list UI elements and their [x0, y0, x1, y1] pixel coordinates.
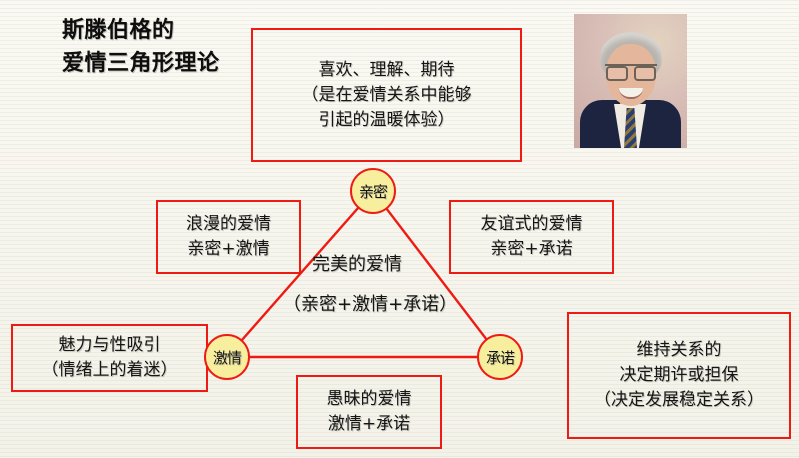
box-intimacy-definition-line-2: （是在爱情关系中能够	[302, 83, 472, 108]
consummate-love-components: （亲密+激情+承诺）	[283, 292, 457, 318]
box-fatuous-love: 愚昧的爱情 激情+承诺	[296, 375, 442, 449]
node-intimacy[interactable]: 亲密	[350, 168, 396, 214]
box-commitment-definition-line-2: 决定期许或担保	[620, 363, 739, 388]
box-romantic-love-line-1: 浪漫的爱情	[186, 212, 271, 237]
box-passion-definition-line-1: 魅力与性吸引	[59, 333, 161, 358]
node-intimacy-label: 亲密	[359, 181, 387, 202]
box-commitment-definition: 维持关系的 决定期许或担保 （决定发展稳定关系）	[567, 312, 791, 439]
box-fatuous-love-line-2: 激情+承诺	[328, 412, 410, 437]
slide-canvas: 斯滕伯格的 爱情三角形理论 亲密 激情 承诺 完美的爱情 （亲密+激情+承诺） …	[0, 0, 799, 458]
box-romantic-love: 浪漫的爱情 亲密+激情	[156, 200, 301, 274]
box-companionate-love-line-1: 友谊式的爱情	[481, 212, 583, 237]
node-commitment[interactable]: 承诺	[477, 334, 523, 380]
box-romantic-love-line-2: 亲密+激情	[187, 237, 269, 262]
box-fatuous-love-line-1: 愚昧的爱情	[327, 387, 412, 412]
consummate-love-label: 完美的爱情	[312, 252, 402, 278]
box-intimacy-definition-line-1: 喜欢、理解、期待	[319, 58, 455, 83]
sternberg-portrait-image	[574, 14, 687, 148]
node-passion-label: 激情	[213, 347, 241, 368]
box-commitment-definition-line-1: 维持关系的	[637, 338, 722, 363]
node-commitment-label: 承诺	[486, 347, 514, 368]
box-passion-definition: 魅力与性吸引 （情绪上的着迷）	[11, 324, 208, 392]
box-intimacy-definition: 喜欢、理解、期待 （是在爱情关系中能够 引起的温暖体验）	[251, 28, 522, 162]
node-passion[interactable]: 激情	[204, 334, 250, 380]
box-companionate-love-line-2: 亲密+承诺	[490, 237, 572, 262]
page-title: 斯滕伯格的 爱情三角形理论	[62, 14, 272, 80]
box-companionate-love: 友谊式的爱情 亲密+承诺	[449, 200, 614, 274]
box-passion-definition-line-2: （情绪上的着迷）	[42, 358, 178, 383]
title-line-2: 爱情三角形理论	[62, 47, 272, 80]
box-commitment-definition-line-3: （决定发展稳定关系）	[594, 388, 764, 413]
glasses-icon	[605, 64, 657, 78]
title-line-1: 斯滕伯格的	[62, 14, 272, 47]
box-intimacy-definition-line-3: 引起的温暖体验）	[319, 108, 455, 133]
